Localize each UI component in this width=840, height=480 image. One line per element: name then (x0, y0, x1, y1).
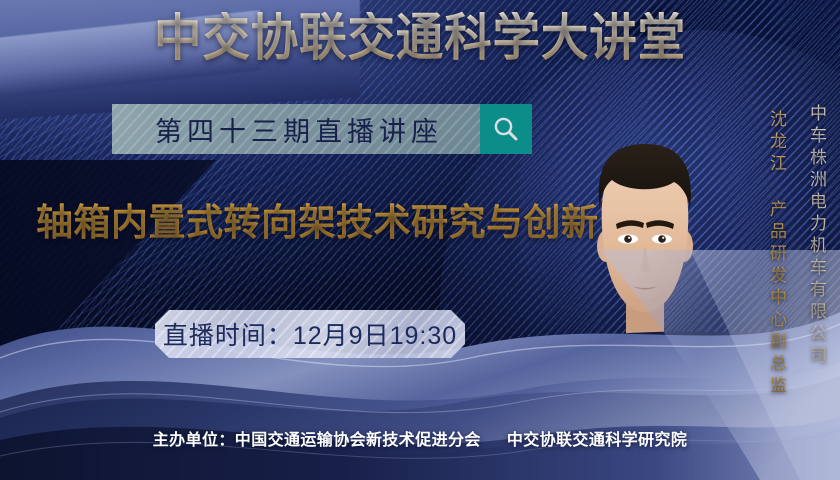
organizer-footer: 主办单位：中国交通运输协会新技术促进分会中交协联交通科学研究院 (0, 426, 840, 450)
episode-label: 第四十三期直播讲座 (149, 110, 443, 149)
lecture-topic: 轴箱内置式转向架技术研究与创新 (36, 192, 599, 246)
organizer-one: 中国交通运输协会新技术促进分会 (235, 432, 481, 449)
search-icon (491, 114, 521, 144)
speaker-name-title: 沈龙江 产品研发中心副总监 (765, 110, 786, 398)
organizer-prefix: 主办单位： (153, 432, 235, 449)
broadcast-time-badge: 直播时间：12月9日19:30 (155, 310, 465, 358)
episode-banner-body: 第四十三期直播讲座 (112, 104, 480, 154)
broadcast-time-text: 直播时间：12月9日19:30 (163, 316, 457, 352)
episode-banner: 第四十三期直播讲座 (112, 104, 532, 154)
webinar-poster: 中交协联交通科学大讲堂 第四十三期直播讲座 轴箱内置式转向架技术研究与创新 直播… (0, 0, 840, 480)
page-title: 中交协联交通科学大讲堂 (29, 12, 810, 63)
organizer-two: 中交协联交通科学研究院 (507, 432, 687, 449)
search-button[interactable] (480, 104, 532, 154)
speaker-company: 中车株洲电力机车有限公司 (805, 104, 826, 368)
